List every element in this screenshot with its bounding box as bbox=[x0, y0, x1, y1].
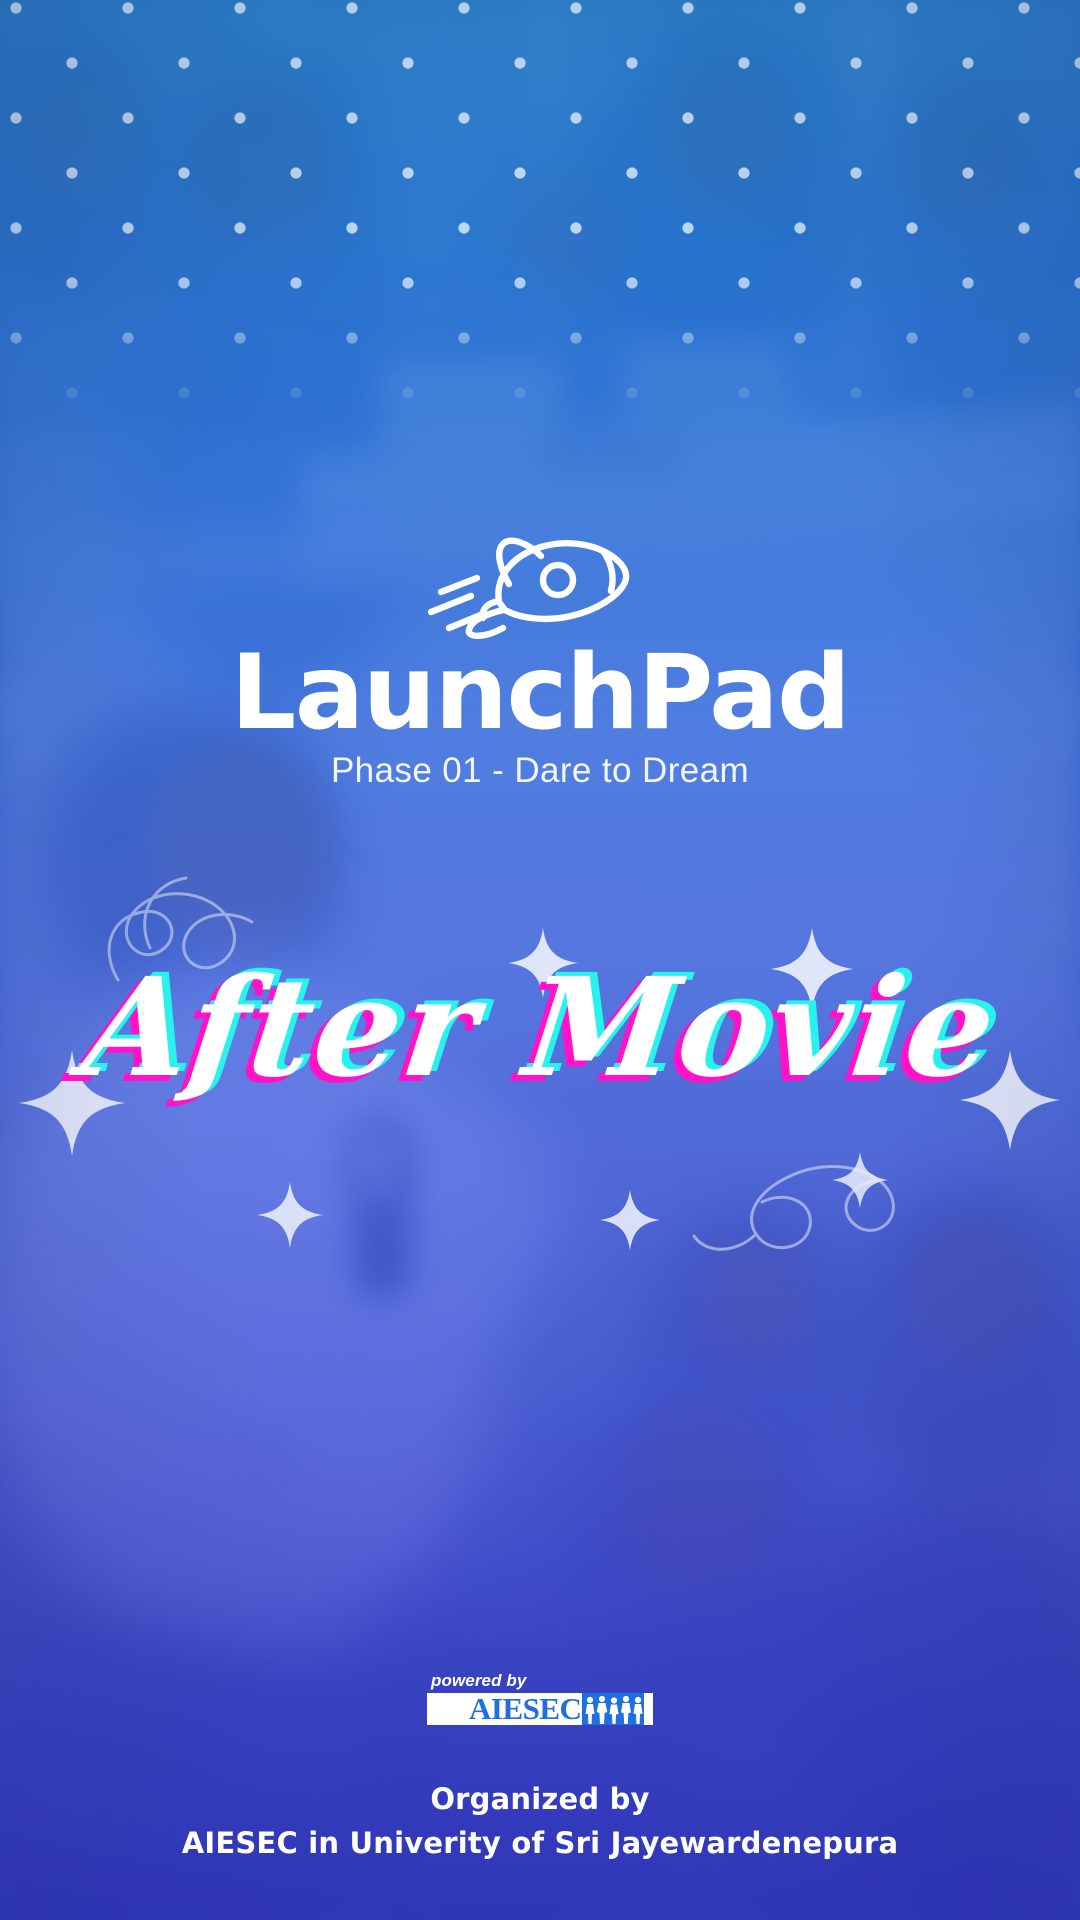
rocket-icon bbox=[425, 528, 655, 640]
aiesec-wordmark: AIESEC bbox=[427, 1693, 581, 1724]
poster-canvas: LaunchPad Phase 01 - Dare to Dream After… bbox=[0, 0, 1080, 1920]
powered-by-label: powered by bbox=[427, 1672, 653, 1691]
brand-name: LaunchPad bbox=[0, 642, 1080, 745]
brand-tagline: Phase 01 - Dare to Dream bbox=[0, 751, 1080, 791]
brand-lockup: LaunchPad Phase 01 - Dare to Dream bbox=[0, 528, 1080, 791]
organizer-name: AIESEC in Univerity of Sri Jayewardenepu… bbox=[0, 1826, 1080, 1860]
organizer-footer: Organized by AIESEC in Univerity of Sri … bbox=[0, 1782, 1080, 1860]
headline-fill: After Movie bbox=[75, 948, 1005, 1108]
headline-after-movie: After Movie After Movie After Movie bbox=[76, 960, 1003, 1096]
aiesec-people-icon bbox=[582, 1693, 644, 1725]
headline-block: After Movie After Movie After Movie bbox=[0, 960, 1080, 1140]
powered-by-aiesec-logo: powered by AIESEC bbox=[427, 1672, 653, 1725]
poster-content: LaunchPad Phase 01 - Dare to Dream After… bbox=[0, 0, 1080, 1920]
aiesec-logo-plate: AIESEC bbox=[427, 1693, 653, 1725]
organized-by-label: Organized by bbox=[0, 1782, 1080, 1816]
